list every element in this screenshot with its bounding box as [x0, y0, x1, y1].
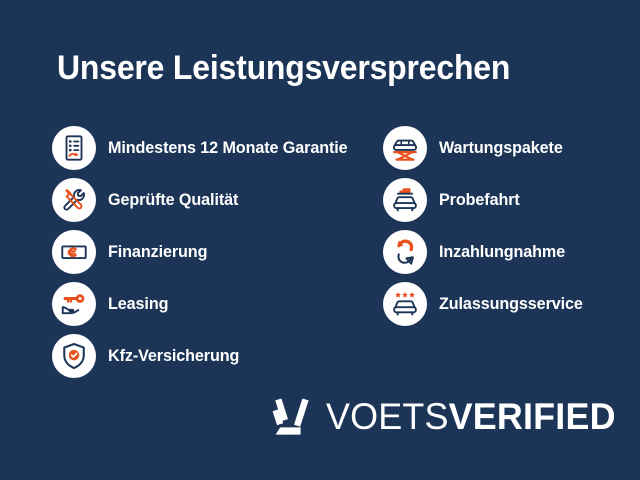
- feature-column-right: Wartungspakete Probefahrt: [383, 126, 633, 326]
- feature-item-probefahrt: Probefahrt: [383, 178, 633, 222]
- feature-column-left: Mindestens 12 Monate Garantie Geprüfte Q…: [52, 126, 382, 378]
- contract-document-icon: [52, 126, 96, 170]
- brand-lockup: VOETSVERIFIED: [272, 396, 625, 438]
- feature-label: Leasing: [108, 294, 168, 314]
- feature-label: Mindestens 12 Monate Garantie: [108, 138, 348, 158]
- brand-name-verified: VERIFIED: [449, 396, 616, 437]
- feature-item-qualitaet: Geprüfte Qualität: [52, 178, 382, 222]
- feature-item-finanzierung: Finanzierung: [52, 230, 382, 274]
- car-lift-icon: [383, 126, 427, 170]
- car-luggage-icon: [383, 178, 427, 222]
- feature-label: Probefahrt: [439, 190, 520, 210]
- voets-v-mark-icon: [272, 396, 312, 438]
- feature-label: Kfz-Versicherung: [108, 346, 239, 366]
- feature-item-versicherung: Kfz-Versicherung: [52, 334, 382, 378]
- brand-name-voets: VOETS: [326, 396, 449, 437]
- feature-item-zulassungsservice: Zulassungsservice: [383, 282, 633, 326]
- feature-label: Inzahlungnahme: [439, 242, 565, 262]
- feature-label: Finanzierung: [108, 242, 207, 262]
- feature-label: Geprüfte Qualität: [108, 190, 238, 210]
- feature-item-wartungspakete: Wartungspakete: [383, 126, 633, 170]
- feature-item-inzahlungnahme: Inzahlungnahme: [383, 230, 633, 274]
- feature-item-leasing: Leasing: [52, 282, 382, 326]
- page-title: Unsere Leistungsversprechen: [57, 48, 565, 88]
- shield-check-icon: [52, 334, 96, 378]
- feature-label: Zulassungsservice: [439, 294, 583, 314]
- feature-label: Wartungspakete: [439, 138, 563, 158]
- euro-banknote-icon: [52, 230, 96, 274]
- car-stars-icon: [383, 282, 427, 326]
- wrench-screwdriver-icon: [52, 178, 96, 222]
- leistungsversprechen-banner: Unsere Leistungsversprechen Mindestens 1…: [0, 0, 640, 480]
- feature-item-garantie: Mindestens 12 Monate Garantie: [52, 126, 382, 170]
- exchange-arrows-icon: [383, 230, 427, 274]
- hand-key-icon: [52, 282, 96, 326]
- brand-wordmark: VOETSVERIFIED: [326, 397, 616, 437]
